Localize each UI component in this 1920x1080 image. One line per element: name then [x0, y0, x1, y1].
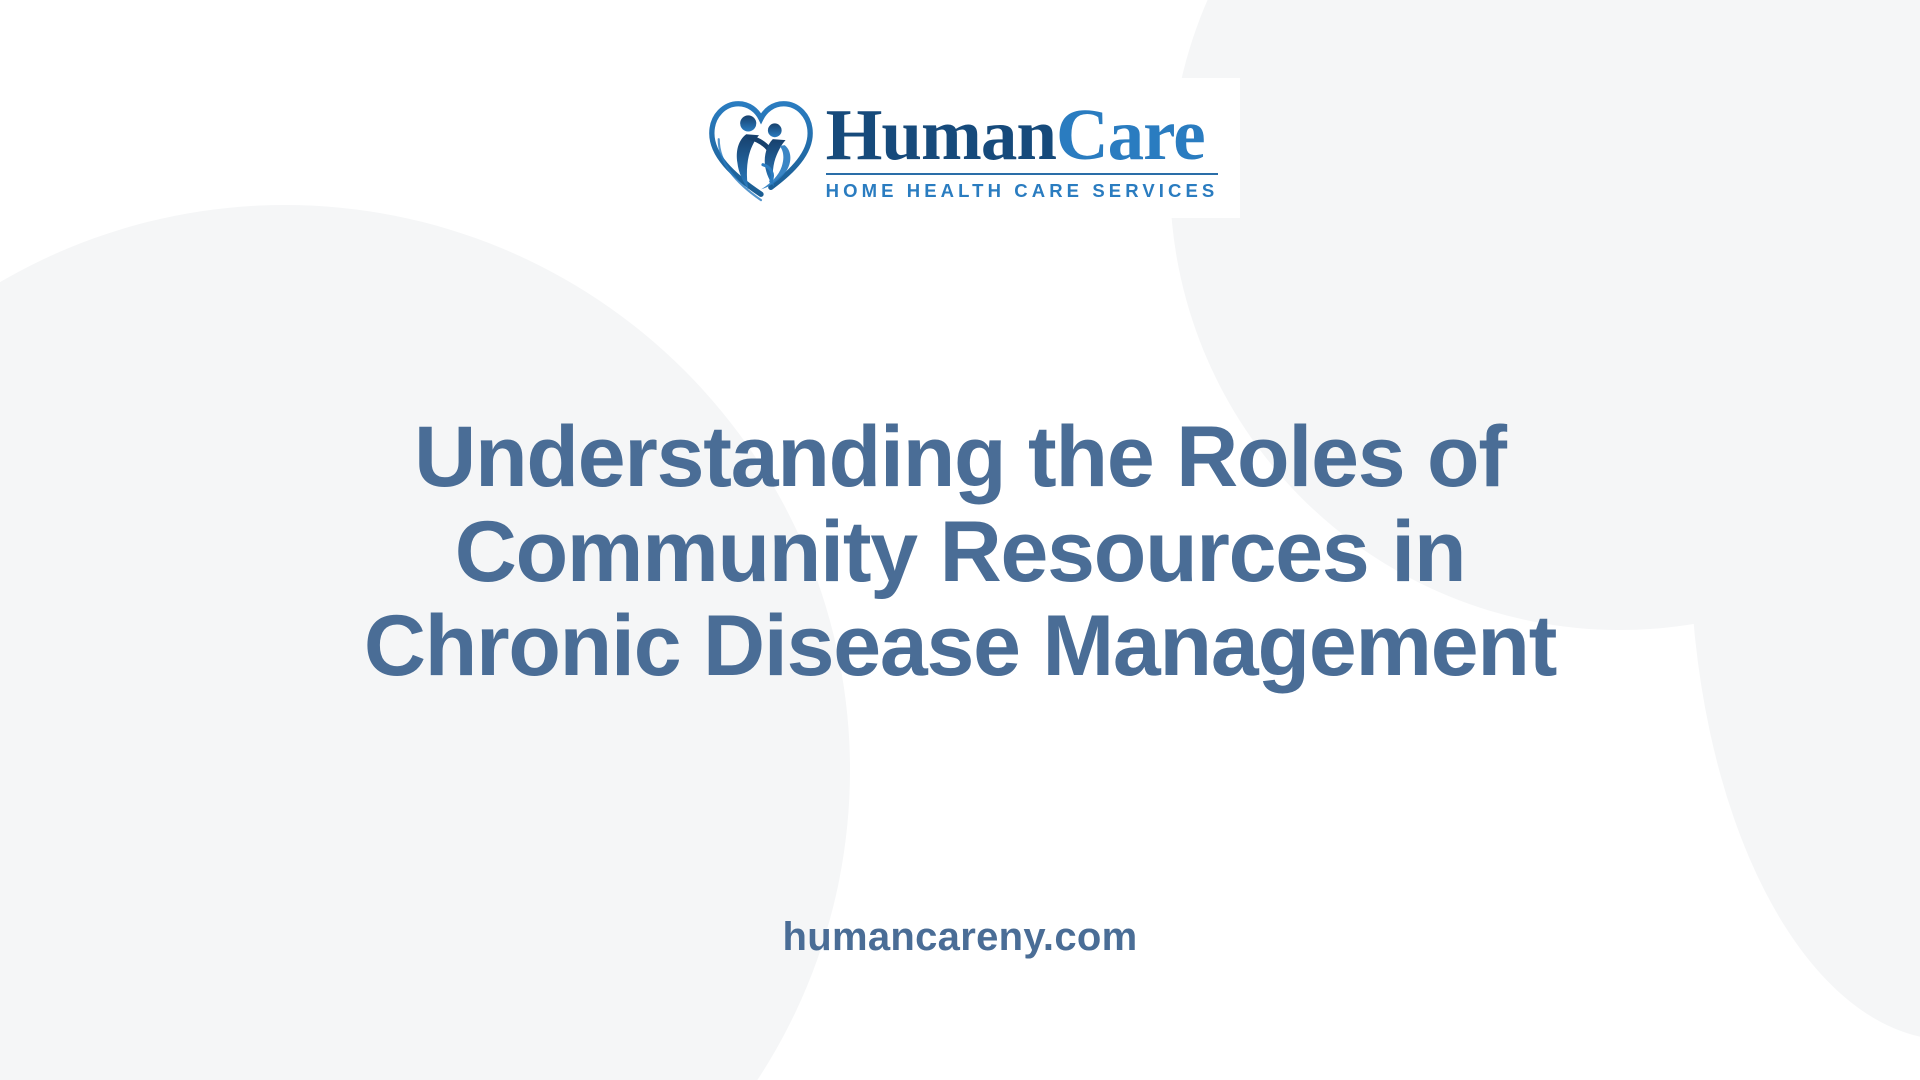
- logo-tagline: Home Health Care Services: [826, 180, 1219, 202]
- heart-with-two-figures-icon: [702, 90, 820, 208]
- logo-text-group: HumanCare Home Health Care Services: [826, 96, 1219, 203]
- brand-logo: HumanCare Home Health Care Services: [680, 78, 1240, 218]
- logo-wordmark: HumanCare: [826, 100, 1219, 171]
- logo-word-care: Care: [1056, 94, 1205, 175]
- page-title-line-3: Chronic Disease Management: [0, 599, 1920, 694]
- page-title: Understanding the Roles of Community Res…: [0, 410, 1920, 694]
- website-url: humancareny.com: [0, 915, 1920, 960]
- logo-divider-rule: [826, 173, 1219, 175]
- title-card-slide: HumanCare Home Health Care Services Unde…: [0, 0, 1920, 1080]
- logo-word-human: Human: [826, 94, 1056, 175]
- page-title-line-1: Understanding the Roles of: [0, 410, 1920, 505]
- page-title-line-2: Community Resources in: [0, 505, 1920, 600]
